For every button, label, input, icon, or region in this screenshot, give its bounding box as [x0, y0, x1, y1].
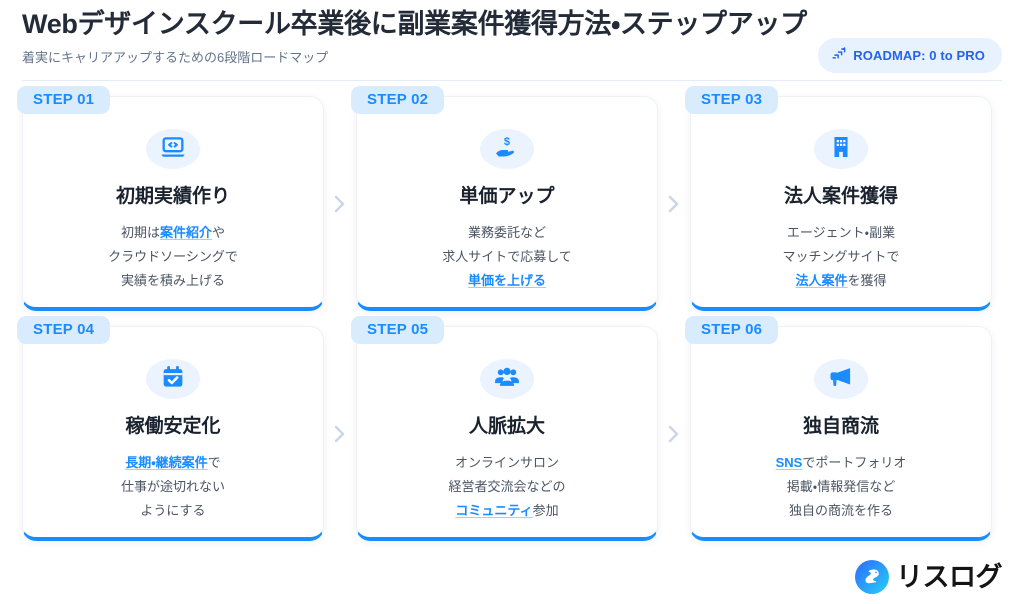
desc-line: オンラインサロン — [448, 451, 565, 475]
desc-line: 経営者交流会などの — [448, 475, 565, 499]
step-desc-4: 長期・継続案件で仕事が途切れないようにする — [121, 451, 225, 523]
desc-text: 仕事が途切れない — [121, 479, 225, 494]
step-card-4[interactable]: STEP 04 稼働安定化 長期・継続案件で仕事が途切れないようにする — [22, 326, 324, 541]
step-title-5: 人脈拡大 — [469, 416, 545, 439]
step-desc-3: エージェント・副業マッチングサイトで法人案件を獲得 — [782, 221, 899, 293]
step-arrow-5 — [658, 326, 690, 541]
desc-text: 業務委託など — [468, 225, 546, 240]
desc-line: 初期は案件紹介や — [108, 221, 238, 245]
desc-line: 掲載・情報発信など — [776, 475, 907, 499]
step-icon-wrap-4 — [146, 359, 200, 399]
desc-highlight[interactable]: 長期・継続案件 — [125, 455, 207, 470]
desc-line: 長期・継続案件で — [121, 451, 225, 475]
chevron-right-icon — [331, 419, 349, 449]
desc-line: エージェント・副業 — [782, 221, 899, 245]
step-badge-1: STEP 01 — [17, 86, 110, 114]
step-card-1[interactable]: STEP 01 初期実績作り 初期は案件紹介やクラウドソーシングで実績を積み上げ… — [22, 96, 324, 311]
desc-line: ようにする — [121, 499, 225, 523]
grid-row-gap — [22, 311, 992, 326]
building-icon — [827, 133, 855, 166]
hand-dollar-icon: $ — [493, 133, 521, 166]
page-header: Webデザインスクール卒業後に副業案件獲得方法・ステップアップ 着実にキャリアア… — [22, 8, 1002, 74]
megaphone-icon — [827, 363, 855, 396]
step-icon-wrap-5 — [480, 359, 534, 399]
desc-text: 経営者交流会などの — [448, 479, 565, 494]
desc-line: 単価を上げる — [442, 269, 572, 293]
desc-text: ようにする — [140, 503, 205, 518]
step-icon-wrap-1 — [146, 129, 200, 169]
page-title: Webデザインスクール卒業後に副業案件獲得方法・ステップアップ — [22, 8, 1002, 40]
step-desc-5: オンラインサロン経営者交流会などのコミュニティ参加 — [448, 451, 565, 523]
site-logo[interactable]: リスログ — [855, 560, 1002, 594]
step-icon-wrap-6 — [814, 359, 868, 399]
desc-text: 参加 — [533, 503, 559, 518]
chevron-right-icon — [665, 189, 683, 219]
steps-grid: STEP 01 初期実績作り 初期は案件紹介やクラウドソーシングで実績を積み上げ… — [22, 96, 1002, 541]
desc-highlight[interactable]: 単価を上げる — [468, 273, 546, 288]
step-badge-2: STEP 02 — [351, 86, 444, 114]
desc-line: 業務委託など — [442, 221, 572, 245]
step-card-3[interactable]: STEP 03 法人案件獲得 エージェント・副業マッチングサイトで法人案件を獲得 — [690, 96, 992, 311]
chevron-right-icon — [331, 189, 349, 219]
chevron-right-icon — [665, 419, 683, 449]
desc-text: や — [212, 225, 225, 240]
squirrel-icon — [855, 560, 889, 594]
step-badge-6: STEP 06 — [685, 316, 778, 344]
step-arrow-1 — [324, 96, 356, 311]
roadmap-badge: ROADMAP: 0 to PRO — [818, 38, 1002, 73]
step-card-5[interactable]: STEP 05 人脈拡大 オンラインサロン経営者交流会などのコミュニティ参加 — [356, 326, 658, 541]
desc-text: でポートフォリオ — [802, 455, 906, 470]
desc-line: 仕事が途切れない — [121, 475, 225, 499]
desc-text: クラウドソーシングで — [108, 249, 238, 264]
desc-text: で — [208, 455, 221, 470]
calendar-check-icon — [159, 363, 187, 396]
desc-text: 実績を積み上げる — [121, 273, 225, 288]
desc-highlight[interactable]: コミュニティ — [455, 503, 532, 518]
step-title-1: 初期実績作り — [116, 186, 230, 209]
step-icon-wrap-3 — [814, 129, 868, 169]
desc-text: 独自の商流を作る — [789, 503, 893, 518]
step-badge-4: STEP 04 — [17, 316, 110, 344]
step-desc-1: 初期は案件紹介やクラウドソーシングで実績を積み上げる — [108, 221, 238, 293]
roadmap-badge-label: ROADMAP: 0 to PRO — [853, 48, 985, 63]
desc-line: 実績を積み上げる — [108, 269, 238, 293]
desc-line: マッチングサイトで — [782, 245, 899, 269]
step-desc-6: SNSでポートフォリオ掲載・情報発信など独自の商流を作る — [776, 451, 907, 523]
step-badge-3: STEP 03 — [685, 86, 778, 114]
desc-text: オンラインサロン — [455, 455, 559, 470]
stairs-icon — [832, 46, 846, 65]
step-card-2[interactable]: STEP 02 $ 単価アップ 業務委託など求人サイトで応募して単価を上げる — [356, 96, 658, 311]
step-arrow-4 — [324, 326, 356, 541]
laptop-code-icon — [159, 133, 187, 166]
step-title-3: 法人案件獲得 — [784, 186, 898, 209]
step-icon-wrap-2: $ — [480, 129, 534, 169]
desc-line: SNSでポートフォリオ — [776, 451, 907, 475]
desc-text: エージェント・副業 — [787, 225, 895, 240]
desc-text: マッチングサイトで — [782, 249, 899, 264]
step-title-6: 独自商流 — [803, 416, 879, 439]
step-arrow-2 — [658, 96, 690, 311]
step-badge-5: STEP 05 — [351, 316, 444, 344]
step-title-4: 稼働安定化 — [125, 416, 220, 439]
step-card-6[interactable]: STEP 06 独自商流 SNSでポートフォリオ掲載・情報発信など独自の商流を作… — [690, 326, 992, 541]
desc-text: 求人サイトで応募して — [442, 249, 572, 264]
svg-text:$: $ — [504, 136, 510, 148]
desc-line: 法人案件を獲得 — [782, 269, 899, 293]
header-divider — [22, 80, 1002, 81]
desc-line: 独自の商流を作る — [776, 499, 907, 523]
logo-text: リスログ — [896, 564, 1002, 591]
desc-highlight[interactable]: 案件紹介 — [160, 225, 212, 240]
desc-line: クラウドソーシングで — [108, 245, 238, 269]
desc-highlight[interactable]: SNS — [776, 455, 803, 470]
desc-text: 掲載・情報発信など — [787, 479, 895, 494]
desc-text: 初期は — [121, 225, 160, 240]
desc-text: を獲得 — [847, 273, 886, 288]
step-desc-2: 業務委託など求人サイトで応募して単価を上げる — [442, 221, 572, 293]
desc-line: コミュニティ参加 — [448, 499, 565, 523]
users-group-icon — [493, 363, 521, 396]
desc-line: 求人サイトで応募して — [442, 245, 572, 269]
step-title-2: 単価アップ — [459, 186, 554, 209]
desc-highlight[interactable]: 法人案件 — [795, 273, 847, 288]
